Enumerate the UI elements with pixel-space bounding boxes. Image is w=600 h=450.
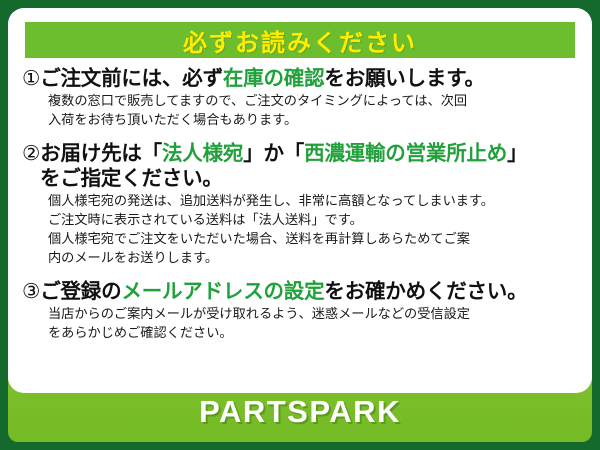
notice-item-3-emphasis: メールアドレスの設定 xyxy=(121,280,324,303)
notice-item-3-number: ③ xyxy=(22,280,40,303)
content-panel: 必ずお読みください ①ご注文前には、必ず在庫の確認をお願いします。 複数の窓口で… xyxy=(8,8,592,393)
notice-item-2-emphasis-2: 西濃運輸の営業所止め xyxy=(304,142,507,165)
notice-item-1-text-a: ご注文前には、必ず xyxy=(40,67,223,90)
notice-banner: PARTSPARK 必ずお読みください ①ご注文前には、必ず在庫の確認をお願いし… xyxy=(0,0,600,450)
notice-item-2-subline-4: 内のメールをお送りします。 xyxy=(48,249,582,268)
notice-item-2-text-c: 」 xyxy=(507,142,527,165)
notice-item-2-text-b: 」か「 xyxy=(243,142,304,165)
notice-item-1-heading: ①ご注文前には、必ず在庫の確認をお願いします。 xyxy=(22,66,582,91)
notice-item-2-emphasis-1: 法人様宛 xyxy=(162,142,243,165)
notice-item-3-subline-1: 当店からのご案内メールが受け取れるよう、迷惑メールなどの受信設定 xyxy=(48,305,582,324)
notice-item-1: ①ご注文前には、必ず在庫の確認をお願いします。 複数の窓口で販売してますので、ご… xyxy=(22,66,582,129)
notice-item-2: ②お届け先は「法人様宛」か「西濃運輸の営業所止め」 をご指定ください。 個人様宅… xyxy=(22,141,582,267)
notice-item-2-text-a: お届け先は「 xyxy=(40,142,162,165)
notice-item-1-text-b: をお願いします。 xyxy=(324,67,484,90)
brand-wrap: PARTSPARK xyxy=(8,394,592,430)
notice-item-2-subline-2: ご注文時に表示されている送料は「法人送料」です。 xyxy=(48,211,582,230)
notice-item-3-subline-2: をあらかじめご確認ください。 xyxy=(48,324,582,343)
notice-item-3: ③ご登録のメールアドレスの設定をお確かめください。 当店からのご案内メールが受け… xyxy=(22,279,582,342)
notice-item-3-heading: ③ご登録のメールアドレスの設定をお確かめください。 xyxy=(22,279,582,304)
title-bar: 必ずお読みください xyxy=(25,22,575,58)
notice-item-1-emphasis: 在庫の確認 xyxy=(223,67,325,90)
notice-item-1-subline-2: 入荷をお待ち頂いただく場合もあります。 xyxy=(48,111,582,130)
notice-item-3-text-a: ご登録の xyxy=(40,280,121,303)
notice-item-2-heading-line2: をご指定ください。 xyxy=(40,166,582,191)
notice-item-2-heading: ②お届け先は「法人様宛」か「西濃運輸の営業所止め」 xyxy=(22,141,582,166)
brand-logo-text: PARTSPARK xyxy=(199,394,401,430)
notice-item-1-number: ① xyxy=(22,67,40,90)
notice-item-3-subtext: 当店からのご案内メールが受け取れるよう、迷惑メールなどの受信設定 をあらかじめご… xyxy=(48,305,582,342)
notice-item-2-subtext: 個人様宅宛の発送は、追加送料が発生し、非常に高額となってしまいます。 ご注文時に… xyxy=(48,192,582,267)
notice-item-1-subtext: 複数の窓口で販売してますので、ご注文のタイミングによっては、次回 入荷をお待ち頂… xyxy=(48,92,582,129)
notice-item-2-subline-3: 個人様宅宛でご注文をいただいた場合、送料を再計算しあらためてご案 xyxy=(48,230,582,249)
notice-item-2-subline-1: 個人様宅宛の発送は、追加送料が発生し、非常に高額となってしまいます。 xyxy=(48,192,582,211)
notice-item-3-text-b: をお確かめください。 xyxy=(324,280,527,303)
notice-list: ①ご注文前には、必ず在庫の確認をお願いします。 複数の窓口で販売してますので、ご… xyxy=(22,66,582,345)
notice-item-1-subline-1: 複数の窓口で販売してますので、ご注文のタイミングによっては、次回 xyxy=(48,92,582,111)
banner-title: 必ずお読みください xyxy=(183,23,417,58)
notice-item-2-number: ② xyxy=(22,142,40,165)
